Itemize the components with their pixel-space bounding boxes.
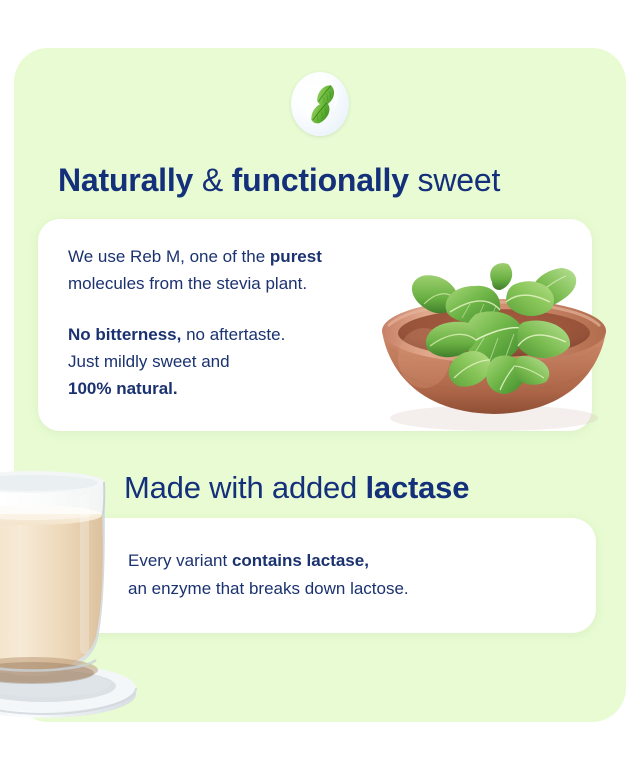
lactase-line2: an enzyme that breaks down lactose. bbox=[128, 579, 409, 598]
stevia-paragraph-1: We use Reb M, one of the purestmolecules… bbox=[68, 243, 378, 297]
stevia-p2-bold-100-natural: 100% natural. bbox=[68, 379, 178, 398]
lactase-bold-contains-lactase: contains lactase, bbox=[232, 551, 369, 570]
stevia-p1-line2: molecules from the stevia plant. bbox=[68, 274, 307, 293]
heading2-made-with-added: Made with added bbox=[124, 470, 366, 505]
stevia-paragraph-2: No bitterness, no aftertaste.Just mildly… bbox=[68, 321, 378, 402]
heading1-sweet: sweet bbox=[409, 162, 500, 198]
lactase-paragraph: Every variant contains lactase,an enzyme… bbox=[128, 547, 528, 603]
heading-naturally-functionally-sweet: Naturally & functionally sweet bbox=[58, 157, 500, 203]
heading1-bold-functionally: functionally bbox=[232, 162, 409, 198]
heading-made-with-added-lactase: Made with added lactase bbox=[124, 466, 469, 510]
stevia-p2-line2: Just mildly sweet and bbox=[68, 352, 230, 371]
stevia-paragraphs: We use Reb M, one of the purestmolecules… bbox=[68, 243, 378, 402]
stevia-p1-bold-purest: purest bbox=[270, 247, 322, 266]
milk-glass-image bbox=[0, 470, 152, 720]
leaf-badge bbox=[291, 72, 349, 136]
stevia-p1-line1-plain: We use Reb M, one of the bbox=[68, 247, 270, 266]
product-info-panel: Naturally & functionally sweet bbox=[0, 0, 640, 768]
stevia-bowl-image bbox=[366, 252, 628, 434]
heading2-bold-lactase: lactase bbox=[366, 470, 470, 505]
stevia-p2-line1-plain: no aftertaste. bbox=[181, 325, 285, 344]
heading1-ampersand: & bbox=[193, 162, 232, 198]
heading1-bold-naturally: Naturally bbox=[58, 162, 193, 198]
stevia-p2-bold-no-bitterness: No bitterness, bbox=[68, 325, 181, 344]
